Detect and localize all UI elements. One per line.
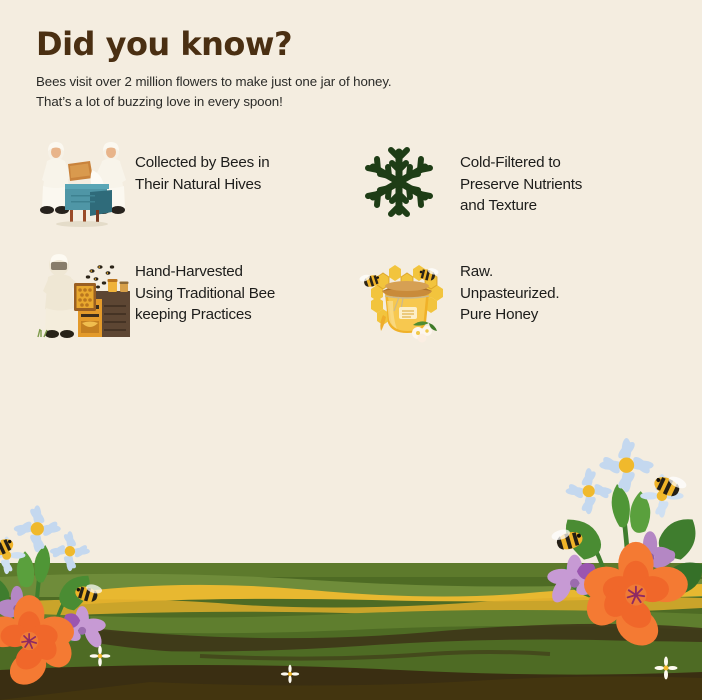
snowflake-icon [355, 140, 460, 235]
feature-line: Using Traditional Bee [135, 285, 275, 302]
page-title: Did you know? [36, 28, 596, 62]
feature-label: Cold-Filtered to Preserve Nutrients and … [460, 140, 582, 217]
feature-line: Pure Honey [460, 306, 538, 323]
feature-line: Preserve Nutrients [460, 176, 582, 193]
feature-item-collected-by-bees: Collected by Bees in Their Natural Hives [30, 140, 355, 235]
feature-label: Hand-Harvested Using Traditional Bee kee… [135, 253, 275, 326]
feature-line: and Texture [460, 197, 537, 214]
feature-line: Cold-Filtered to [460, 154, 561, 171]
feature-item-hand-harvested: Hand-Harvested Using Traditional Bee kee… [30, 253, 355, 348]
feature-label: Collected by Bees in Their Natural Hives [135, 140, 269, 195]
feature-row-2: Hand-Harvested Using Traditional Bee kee… [30, 253, 680, 348]
feature-line: Collected by Bees in [135, 154, 269, 171]
feature-label: Raw. Unpasteurized. Pure Honey [460, 253, 559, 326]
feature-line: Their Natural Hives [135, 176, 261, 193]
feature-row-1: Collected by Bees in Their Natural Hives [30, 140, 680, 235]
beekeeper-frame-icon [30, 253, 135, 348]
header-block: Did you know? Bees visit over 2 million … [36, 28, 596, 113]
meadow-scene [0, 430, 702, 700]
subtitle-line-2: That’s a lot of buzzing love in every sp… [36, 94, 283, 109]
honey-jar-icon [355, 253, 460, 348]
feature-item-raw-honey: Raw. Unpasteurized. Pure Honey [355, 253, 680, 348]
page-subtitle: Bees visit over 2 million flowers to mak… [36, 72, 596, 113]
feature-line: Unpasteurized. [460, 285, 559, 302]
subtitle-line-1: Bees visit over 2 million flowers to mak… [36, 74, 392, 89]
poster-canvas: Did you know? Bees visit over 2 million … [0, 0, 702, 700]
feature-grid: Collected by Bees in Their Natural Hives [30, 140, 680, 348]
feature-line: Hand-Harvested [135, 263, 243, 280]
beekeepers-hive-icon [30, 140, 135, 235]
feature-line: Raw. [460, 263, 493, 280]
feature-item-cold-filtered: Cold-Filtered to Preserve Nutrients and … [355, 140, 680, 235]
feature-line: keeping Practices [135, 306, 251, 323]
